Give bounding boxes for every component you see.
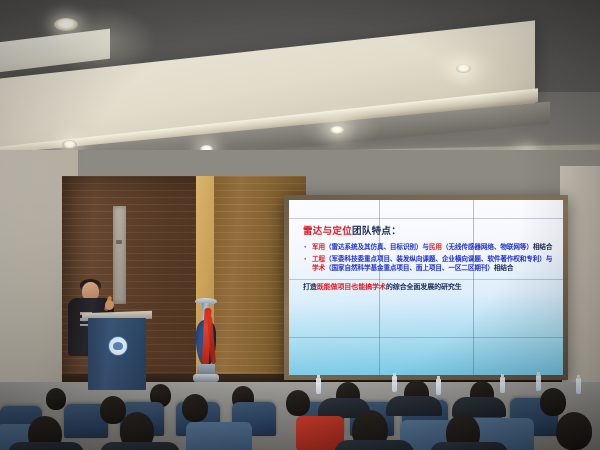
water-bottle	[316, 378, 321, 394]
panel-seam	[289, 337, 563, 338]
footer-segment: 的综合全面发展的研究生	[386, 284, 462, 291]
water-bottle	[576, 378, 581, 394]
audience-shoulders	[100, 442, 180, 450]
lecture-hall-photo: 雷达与定位团队特点： 军用（雷达系统及其仿真、目标识别）与民用（无线传感器网络、…	[0, 0, 600, 450]
bullet-segment: （国家自然科学基金重点项目、面上项目、一区二区期刊）	[325, 265, 494, 272]
video-wall-frame: 雷达与定位团队特点： 军用（雷达系统及其仿真、目标识别）与民用（无线传感器网络、…	[284, 195, 568, 380]
light-glow	[46, 6, 156, 76]
footer-segment: 打造	[303, 284, 317, 291]
bullet-segment: 相结合	[494, 265, 513, 272]
audience-shoulders	[8, 442, 84, 450]
bullet-segment: 民用	[429, 244, 442, 251]
bullet-segment: 工程	[312, 256, 325, 263]
water-bottle	[392, 376, 397, 392]
slide-footer: 打造既能做项目也能搞学术的综合全面发展的研究生	[303, 283, 553, 292]
audience-head	[182, 394, 208, 422]
bullet-segment: （军委科技委重点项目、装发纵向课题、企业横向课题、软件著作权和专利）与	[325, 256, 552, 263]
light-glow	[430, 44, 500, 88]
slide-title-rest: 团队特点：	[352, 226, 401, 237]
audience-head	[540, 388, 566, 416]
slide-bullet: 工程（军委科技委重点项目、装发纵向课题、企业横向课题、软件著作权和专利）与学术（…	[303, 256, 553, 273]
bullet-segment: 相结合	[533, 244, 552, 251]
bullet-segment: 学术	[312, 265, 325, 272]
footer-segment: 既能做项目也能搞学术	[317, 284, 386, 291]
audience-head	[46, 388, 66, 410]
water-bottle	[536, 375, 541, 391]
bullet-segment: （无线传感器网络、物联网等）	[442, 244, 533, 251]
slide-bullet-list: 军用（雷达系统及其仿真、目标识别）与民用（无线传感器网络、物联网等）相结合 工程…	[303, 244, 553, 273]
speaker-hand	[105, 300, 114, 310]
bullet-segment: 军用	[312, 244, 325, 251]
slide-title-accent: 雷达与定位	[303, 226, 352, 237]
audience-shoulders	[334, 440, 414, 450]
bullet-segment: （雷达系统及其仿真、目标识别）与	[325, 244, 429, 251]
seat	[186, 422, 252, 450]
light-glow	[300, 104, 380, 150]
water-bottle	[436, 379, 441, 395]
audience-shoulders	[430, 442, 508, 450]
panel-seam	[289, 279, 563, 280]
panel-seam	[289, 218, 563, 219]
slide-bullet: 军用（雷达系统及其仿真、目标识别）与民用（无线传感器网络、物联网等）相结合	[303, 244, 553, 253]
door-panel[interactable]	[113, 206, 126, 304]
slide-title: 雷达与定位团队特点：	[303, 226, 553, 237]
audience-shoulders	[386, 396, 442, 416]
water-bottle	[500, 377, 505, 393]
audience-head	[286, 390, 310, 416]
panel-seam	[379, 200, 380, 375]
downlight-icon	[62, 140, 77, 149]
door-handle-icon[interactable]	[116, 240, 122, 244]
audience-area	[0, 372, 600, 450]
downlight-icon	[54, 18, 78, 31]
audience-head	[556, 412, 592, 450]
panel-seam	[473, 200, 474, 375]
slide-content: 雷达与定位团队特点： 军用（雷达系统及其仿真、目标识别）与民用（无线传感器网络、…	[289, 200, 563, 375]
podium-emblem-icon	[108, 336, 128, 356]
presentation-screen[interactable]: 雷达与定位团队特点： 军用（雷达系统及其仿真、目标识别）与民用（无线传感器网络、…	[289, 200, 563, 375]
